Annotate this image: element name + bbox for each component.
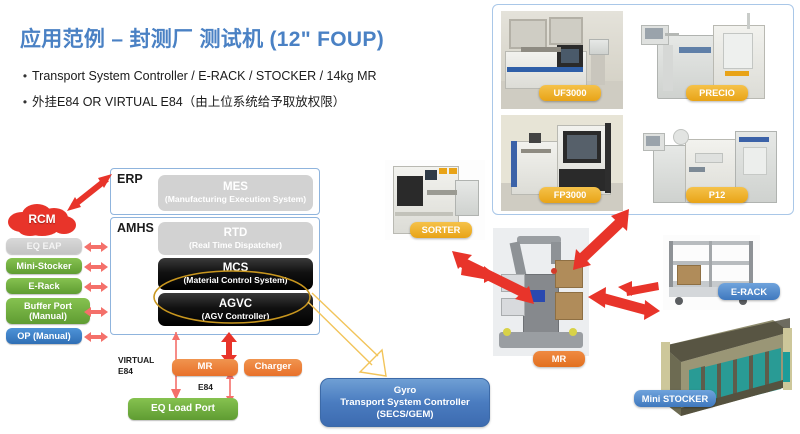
pill-charger: Charger — [244, 359, 302, 376]
photo-mini-stocker — [645, 312, 795, 424]
caption-text: E-RACK — [731, 287, 767, 297]
gyro-line-2: Transport System Controller — [340, 397, 470, 409]
caption-text: SORTER — [422, 225, 461, 235]
gyro-line-1: Gyro — [394, 385, 416, 397]
caption-text: FP3000 — [554, 190, 587, 200]
block-mcs-subtitle: (Material Control System) — [183, 275, 287, 286]
pill-buffer-port: Buffer Port (Manual) — [6, 298, 90, 324]
block-agvc: AGVC (AGV Controller) — [158, 293, 313, 326]
photo-caption-precio: PRECIO — [686, 85, 748, 101]
caption-text: P12 — [709, 190, 726, 200]
block-rtd-title: RTD — [224, 227, 248, 240]
gyro-line-3: (SECS/GEM) — [376, 409, 433, 421]
block-rtd-subtitle: (Real Time Dispatcher) — [189, 240, 282, 251]
pill-label: EQ Load Port — [151, 404, 215, 415]
equipment-photo-panel: UF3000 PRECIO — [492, 4, 794, 215]
pill-mini-stocker: Mini-Stocker — [6, 258, 82, 274]
photo-caption-mr: MR — [533, 351, 585, 367]
caption-text: PRECIO — [699, 88, 735, 98]
pill-label: Mini-Stocker — [16, 261, 71, 272]
photo-caption-p12: P12 — [686, 187, 748, 203]
caption-text: UF3000 — [553, 88, 586, 98]
photo-caption-e-rack: E-RACK — [718, 283, 780, 300]
photo-caption-mini-stocker: Mini STOCKER — [634, 390, 716, 407]
pill-eq-load-port: EQ Load Port — [128, 398, 238, 420]
pill-label: EQ EAP — [27, 241, 62, 252]
caption-text: Mini STOCKER — [642, 394, 708, 404]
caption-text: MR — [552, 354, 566, 364]
list-item: • Transport System Controller / E-RACK /… — [18, 68, 488, 85]
pill-e-rack: E-Rack — [6, 278, 82, 294]
bullet-marker-icon: • — [18, 68, 32, 85]
bullet-marker-icon: • — [18, 94, 32, 111]
photo-mr — [493, 228, 589, 356]
pill-label: Buffer Port (Manual) — [10, 301, 86, 322]
block-mes-title: MES — [223, 181, 248, 194]
block-mcs: MCS (Material Control System) — [158, 258, 313, 290]
rcm-label: RCM — [6, 202, 78, 236]
pill-label: OP (Manual) — [17, 331, 70, 342]
page-title: 应用范例 – 封测厂 测试机 (12" FOUP) — [20, 23, 384, 53]
list-item: • 外挂E84 OR VIRTUAL E84（由上位系统给予取放权限） — [18, 94, 488, 111]
note-virtual-e84: E84 — [118, 366, 133, 376]
pill-mr: MR — [172, 359, 238, 376]
bullet-text: 外挂E84 OR VIRTUAL E84（由上位系统给予取放权限） — [32, 94, 345, 111]
block-rtd: RTD (Real Time Dispatcher) — [158, 222, 313, 255]
block-agvc-subtitle: (AGV Controller) — [202, 311, 270, 322]
note-e84: E84 — [198, 382, 213, 392]
rcm-cloud: RCM — [6, 202, 78, 236]
photo-caption-uf3000: UF3000 — [539, 85, 601, 101]
arrows-pill-to-amhs — [84, 236, 114, 356]
block-mes-subtitle: (Manufacturing Execution System) — [159, 194, 312, 205]
pill-label: MR — [198, 362, 213, 373]
pill-eq-eap: EQ EAP — [6, 238, 82, 254]
gyro-controller-box: Gyro Transport System Controller (SECS/G… — [320, 378, 490, 427]
pill-label: E-Rack — [28, 281, 59, 292]
slide-root: 应用范例 – 封测厂 测试机 (12" FOUP) • Transport Sy… — [0, 0, 800, 434]
block-agvc-title: AGVC — [219, 298, 252, 311]
bullet-text: Transport System Controller / E-RACK / S… — [32, 68, 377, 85]
block-mcs-title: MCS — [223, 262, 249, 275]
block-mes: MES (Manufacturing Execution System) — [158, 175, 313, 211]
photo-caption-fp3000: FP3000 — [539, 187, 601, 203]
photo-caption-sorter: SORTER — [410, 222, 472, 238]
pill-label: Charger — [255, 362, 292, 373]
bullet-list: • Transport System Controller / E-RACK /… — [18, 68, 488, 120]
pill-op-manual: OP (Manual) — [6, 328, 82, 344]
note-virtual: VIRTUAL — [118, 355, 154, 365]
